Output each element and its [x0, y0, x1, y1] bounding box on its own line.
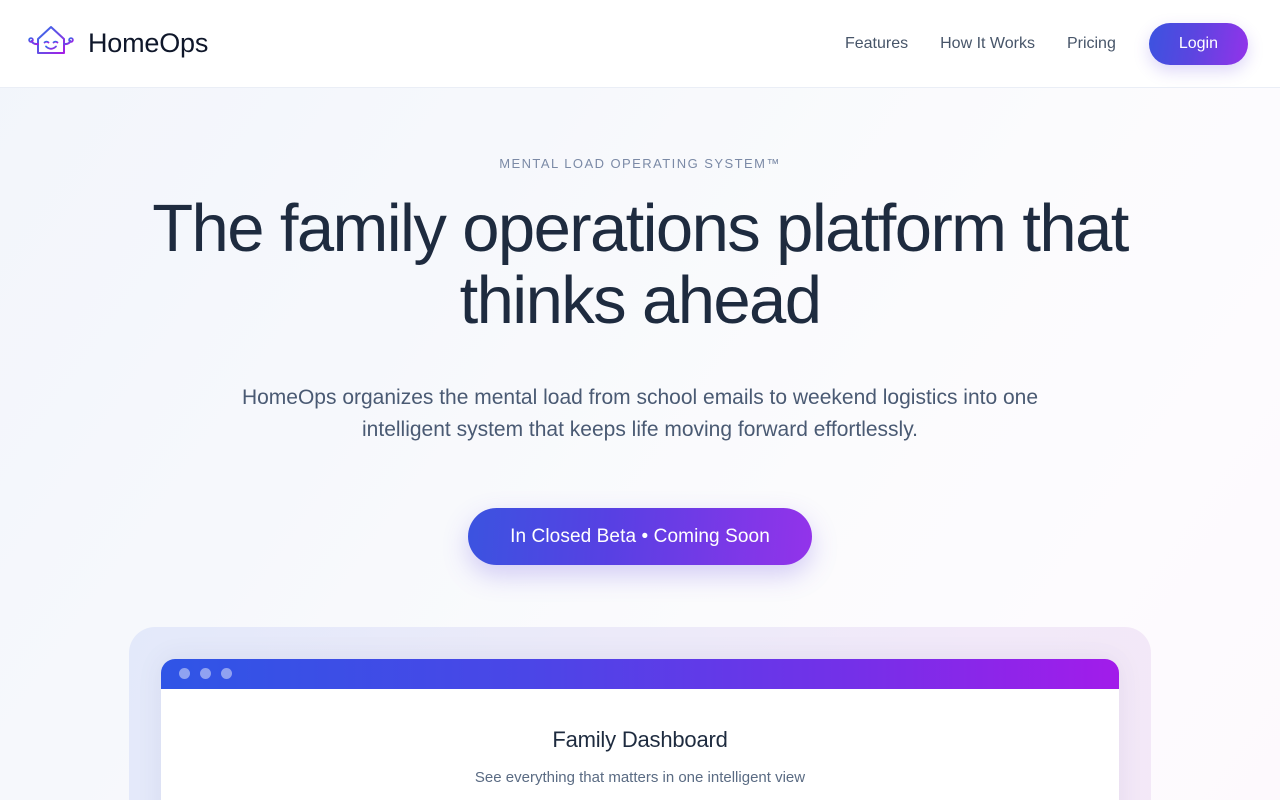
brand-logo-link[interactable]: HomeOps: [28, 19, 208, 69]
window-title-bar: [161, 659, 1119, 689]
hero-section: MENTAL LOAD OPERATING SYSTEM™ The family…: [0, 88, 1280, 800]
hero-title: The family operations platform that thin…: [95, 193, 1185, 338]
dashboard-subtitle: See everything that matters in one intel…: [193, 769, 1087, 786]
nav-item-how-it-works[interactable]: How It Works: [940, 35, 1035, 53]
nav-item-features[interactable]: Features: [845, 35, 908, 53]
dashboard-preview-frame: Family Dashboard See everything that mat…: [129, 627, 1151, 800]
window-dot-red-icon: [179, 668, 190, 679]
brand-name: HomeOps: [88, 28, 208, 59]
nav-item-pricing[interactable]: Pricing: [1067, 35, 1116, 53]
main-navigation: Features How It Works Pricing Login: [845, 23, 1248, 65]
hero-cta-container: In Closed Beta • Coming Soon: [0, 508, 1280, 565]
dashboard-window-body: Family Dashboard See everything that mat…: [161, 689, 1119, 800]
closed-beta-cta-button[interactable]: In Closed Beta • Coming Soon: [468, 508, 812, 565]
house-character-logo-icon: [28, 19, 74, 69]
hero-subtitle: HomeOps organizes the mental load from s…: [200, 382, 1080, 446]
dashboard-window: Family Dashboard See everything that mat…: [161, 659, 1119, 800]
site-header: HomeOps Features How It Works Pricing Lo…: [0, 0, 1280, 88]
login-button[interactable]: Login: [1149, 23, 1248, 65]
window-dot-green-icon: [221, 668, 232, 679]
window-dot-yellow-icon: [200, 668, 211, 679]
hero-eyebrow: MENTAL LOAD OPERATING SYSTEM™: [0, 156, 1280, 171]
dashboard-preview-container: Family Dashboard See everything that mat…: [0, 627, 1280, 800]
dashboard-title: Family Dashboard: [193, 727, 1087, 753]
